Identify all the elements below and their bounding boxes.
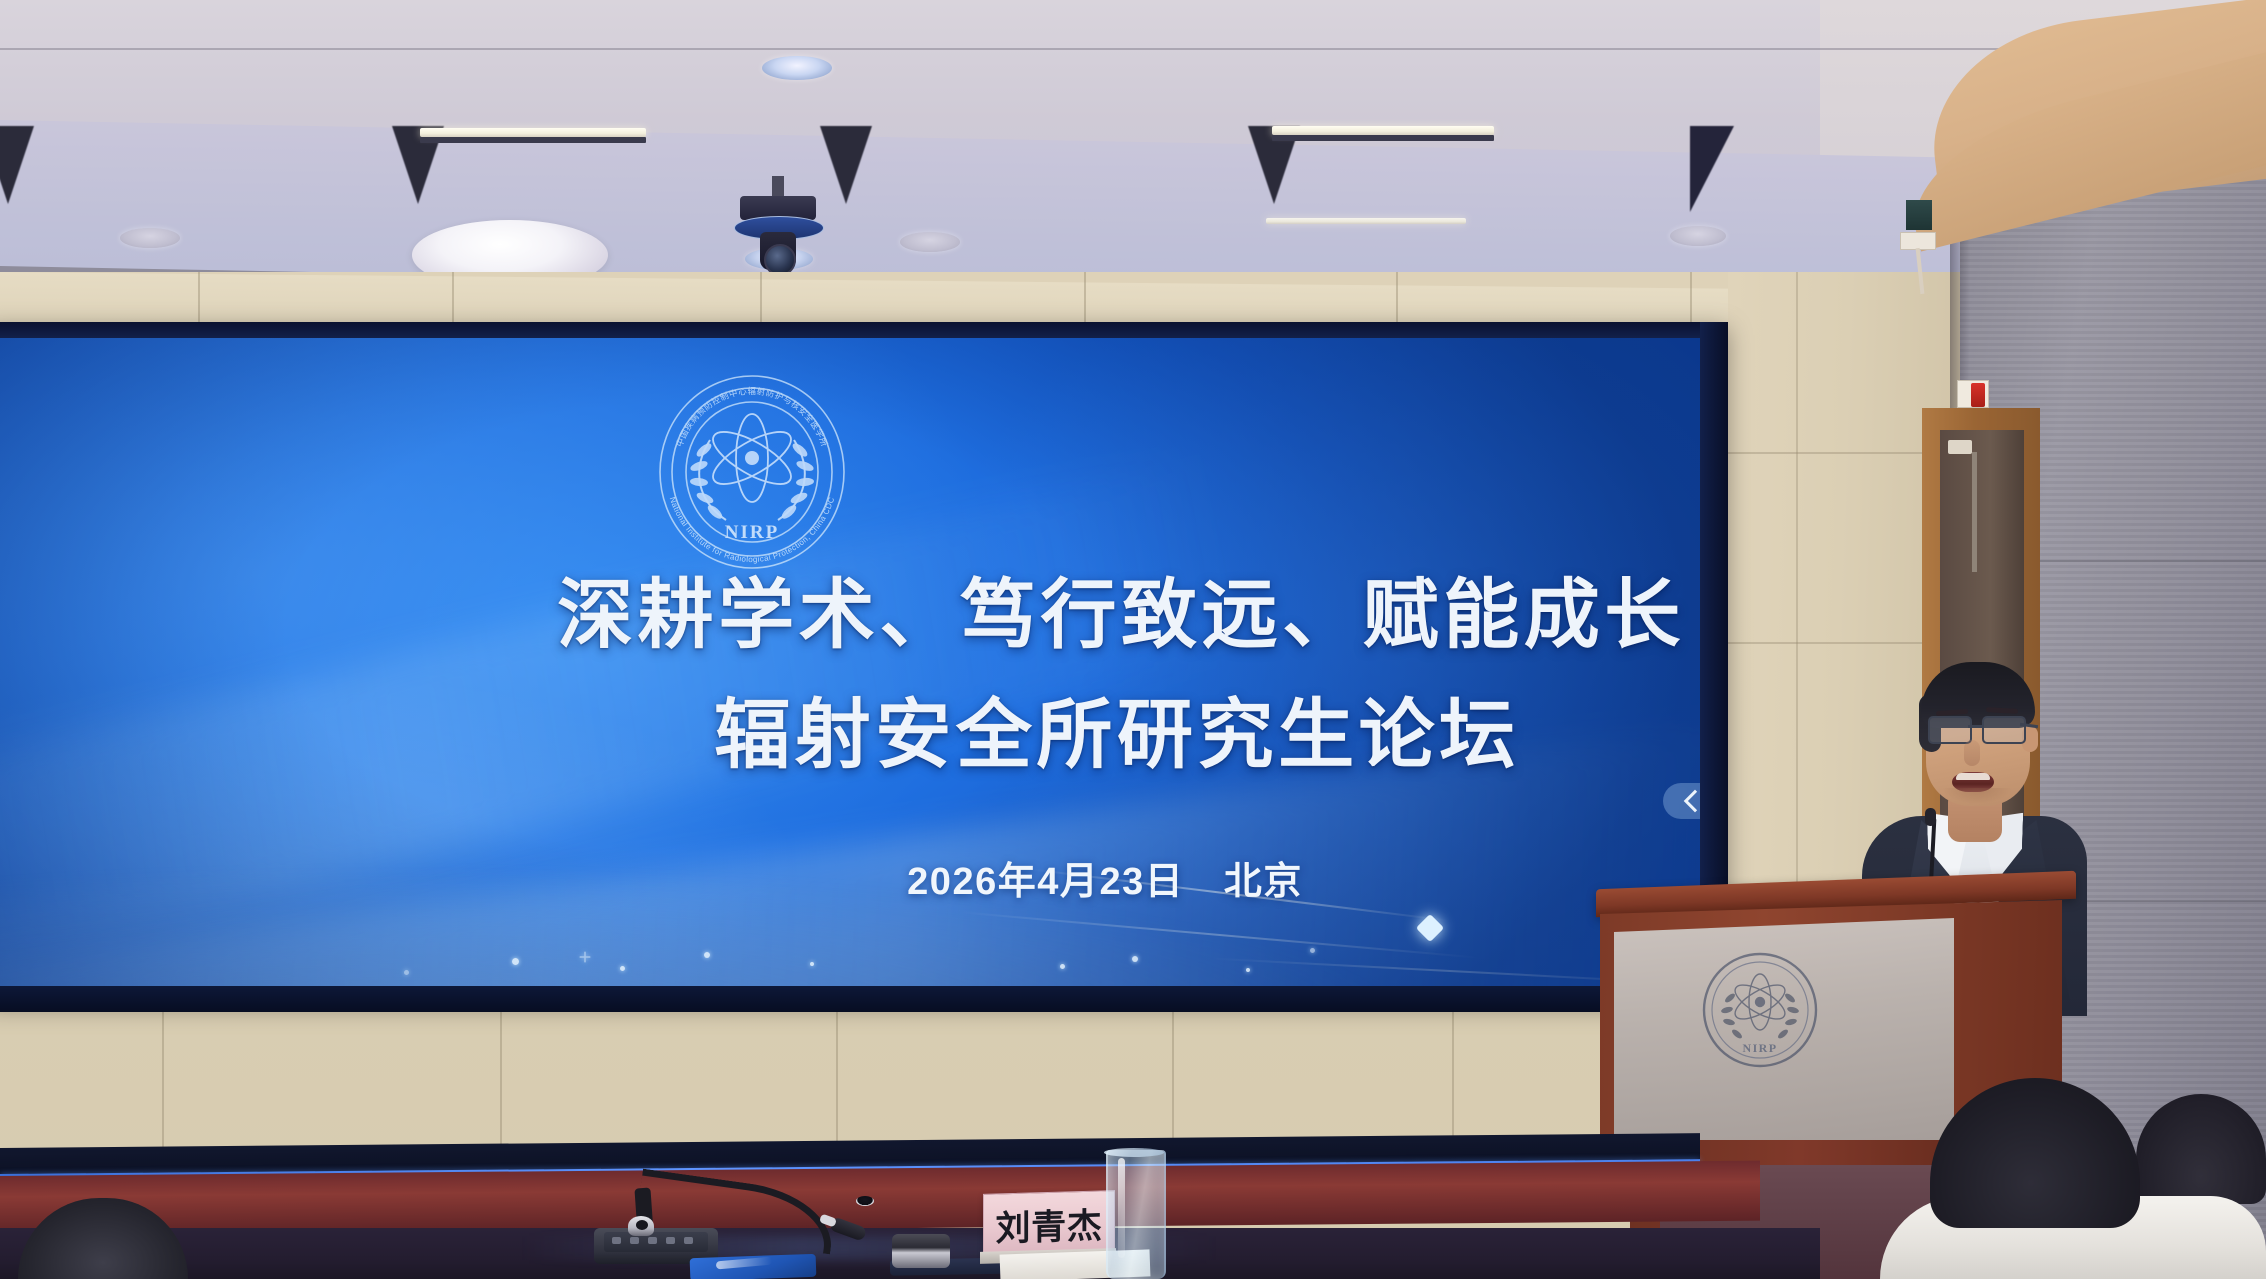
fire-alarm-pull-station-icon[interactable]: [1971, 383, 1985, 407]
linear-strip-light-icon: [1266, 218, 1466, 224]
speaker-nose: [1964, 740, 1980, 766]
speaker-chin-shadow: [1942, 788, 2012, 804]
door-closer-arm: [1972, 452, 1977, 572]
recessed-downlight-icon: [762, 56, 832, 80]
eyeglass-lens-left: [1928, 716, 1972, 744]
recessed-downlight-icon: [900, 232, 960, 252]
slide-particle: [704, 952, 710, 958]
conference-hall-photo: NIRP 中国疾病预防控制中心辐射防护与核安全医学所 National Inst…: [0, 0, 2266, 1279]
recessed-downlight-icon: [120, 228, 180, 248]
microphone-knob-center: [636, 1220, 648, 1230]
recessed-downlight-icon: [1670, 226, 1726, 246]
slide-sparkle-icon: [580, 952, 591, 963]
acoustic-wedge-icon: [1690, 126, 1734, 212]
strip-light-housing: [420, 137, 646, 143]
slide-particle: [620, 966, 625, 971]
slide-particle: [1132, 956, 1138, 962]
slide-particle: [810, 962, 814, 966]
glass-highlight: [1118, 1158, 1125, 1258]
slide-particle: [1060, 964, 1065, 969]
microphone-button[interactable]: [648, 1237, 657, 1244]
nirp-emblem-icon: NIRP 中国疾病预防控制中心辐射防护与核安全医学所 National Inst…: [652, 372, 852, 572]
name-placard-text: 刘青杰: [995, 1197, 1102, 1251]
slide-particle: [1310, 948, 1315, 953]
linear-strip-light-icon: [1272, 126, 1494, 135]
glass-rim: [1104, 1148, 1164, 1157]
table-grommet-icon: [856, 1196, 874, 1206]
slide-particle: [404, 970, 409, 975]
door-closer-icon: [1948, 440, 1972, 454]
slide-title-line-2: 辐射安全所研究生论坛: [0, 698, 2250, 774]
slide-particle: [512, 958, 519, 965]
microphone-button[interactable]: [666, 1237, 675, 1244]
microphone-button[interactable]: [630, 1237, 639, 1244]
screen-bezel-bottom: [0, 986, 1728, 1012]
svg-text:NIRP: NIRP: [725, 522, 779, 543]
slide-title-line-1: 深耕学术、笃行致远、赋能成长: [0, 578, 2254, 654]
nirp-emblem-icon: NIRP: [1700, 950, 1820, 1070]
slide-particle: [1246, 968, 1250, 972]
ceiling-seam: [0, 48, 2266, 50]
speaker-teeth: [1956, 773, 1990, 780]
microphone-button[interactable]: [612, 1237, 621, 1244]
eyeglasses-icon: [1924, 716, 2036, 742]
acoustic-wedge-icon: [0, 126, 34, 204]
electrical-junction-box-icon: [1906, 200, 1932, 230]
podium-microphone-icon: [1925, 808, 1936, 826]
linear-strip-light-icon: [420, 128, 646, 137]
svg-text:NIRP: NIRP: [1743, 1041, 1778, 1055]
acoustic-wedge-icon: [820, 126, 872, 204]
strip-light-housing: [1272, 135, 1494, 141]
small-container-icon: [892, 1234, 950, 1268]
microphone-button[interactable]: [684, 1237, 693, 1244]
eyeglass-bridge: [1968, 725, 1982, 728]
wall-panel-seam: [836, 1012, 838, 1162]
screen-bezel-top: [0, 322, 1728, 338]
water-glass-icon: [1106, 1150, 1166, 1279]
eyeglass-lens-right: [1982, 716, 2026, 744]
